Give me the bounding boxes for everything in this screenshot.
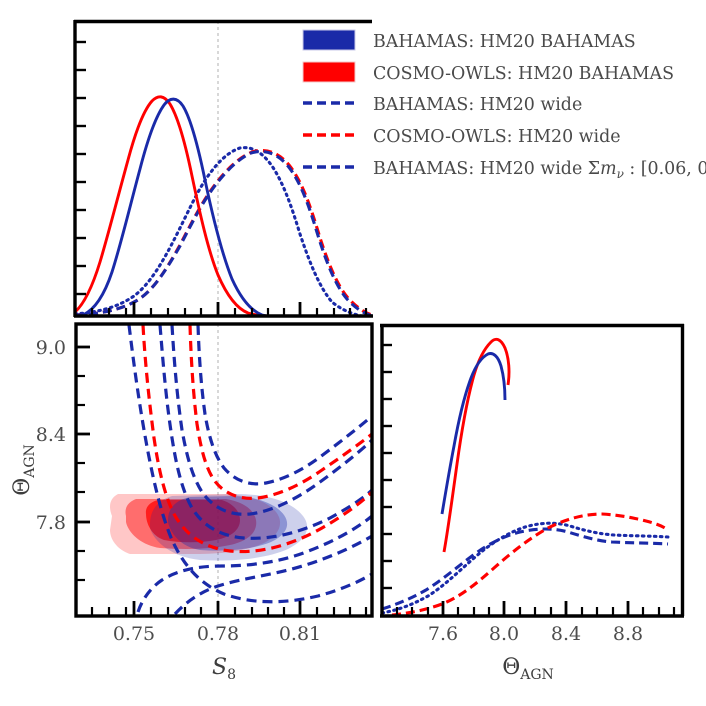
right-xtick-label-0: 7.6 (428, 623, 458, 645)
xtick-label-1: 0.78 (197, 623, 239, 645)
figure-canvas: BAHAMAS: HM20 BAHAMAS COSMO-OWLS: HM20 B… (0, 0, 706, 706)
right-xtick-label-3: 8.8 (613, 623, 643, 645)
x-axis-label-s8-base: S (212, 655, 227, 680)
corner-plot-figure: BAHAMAS: HM20 BAHAMAS COSMO-OWLS: HM20 B… (0, 0, 706, 706)
y-axis-label-sub: AGN (22, 444, 38, 479)
fill-bahamas-1sigma (168, 496, 287, 551)
ytick-label-2: 9.0 (36, 337, 66, 359)
ytick-label-0: 7.8 (36, 512, 66, 534)
legend-label-2: BAHAMAS: HM20 wide (373, 95, 582, 115)
legend-label-4: BAHAMAS: HM20 wide Σmν : [0.06, 0.6] (373, 159, 706, 181)
xtick-label-2: 0.81 (279, 623, 321, 645)
x-axis-label-theta-sub: AGN (519, 667, 554, 683)
y-axis-label-base: Θ (10, 478, 35, 496)
legend-swatch-bahamas-hm20-bahamas (303, 30, 355, 50)
legend-label-4-part1: Σ (588, 159, 600, 179)
figure-background (0, 0, 706, 706)
right-xtick-label-2: 8.4 (551, 623, 581, 645)
legend-swatch-cosmoowls-hm20-bahamas (303, 62, 355, 82)
legend-label-4-part2: m (600, 159, 617, 179)
x-axis-label-theta-base: Θ (502, 655, 520, 680)
legend-label-4-part4: : [0.06, 0.6] (624, 159, 706, 179)
legend-label-4-part0: BAHAMAS: HM20 wide (373, 159, 588, 179)
xtick-label-0: 0.75 (113, 623, 155, 645)
x-axis-label-s8-sub: 8 (227, 667, 236, 683)
legend-label-0: BAHAMAS: HM20 BAHAMAS (373, 32, 636, 52)
legend-label-4-part3: ν (617, 167, 624, 181)
ytick-label-1: 8.4 (36, 424, 66, 446)
legend-label-3: COSMO-OWLS: HM20 wide (373, 127, 621, 147)
right-xtick-label-1: 8.0 (489, 623, 519, 645)
legend-label-1: COSMO-OWLS: HM20 BAHAMAS (373, 64, 674, 84)
